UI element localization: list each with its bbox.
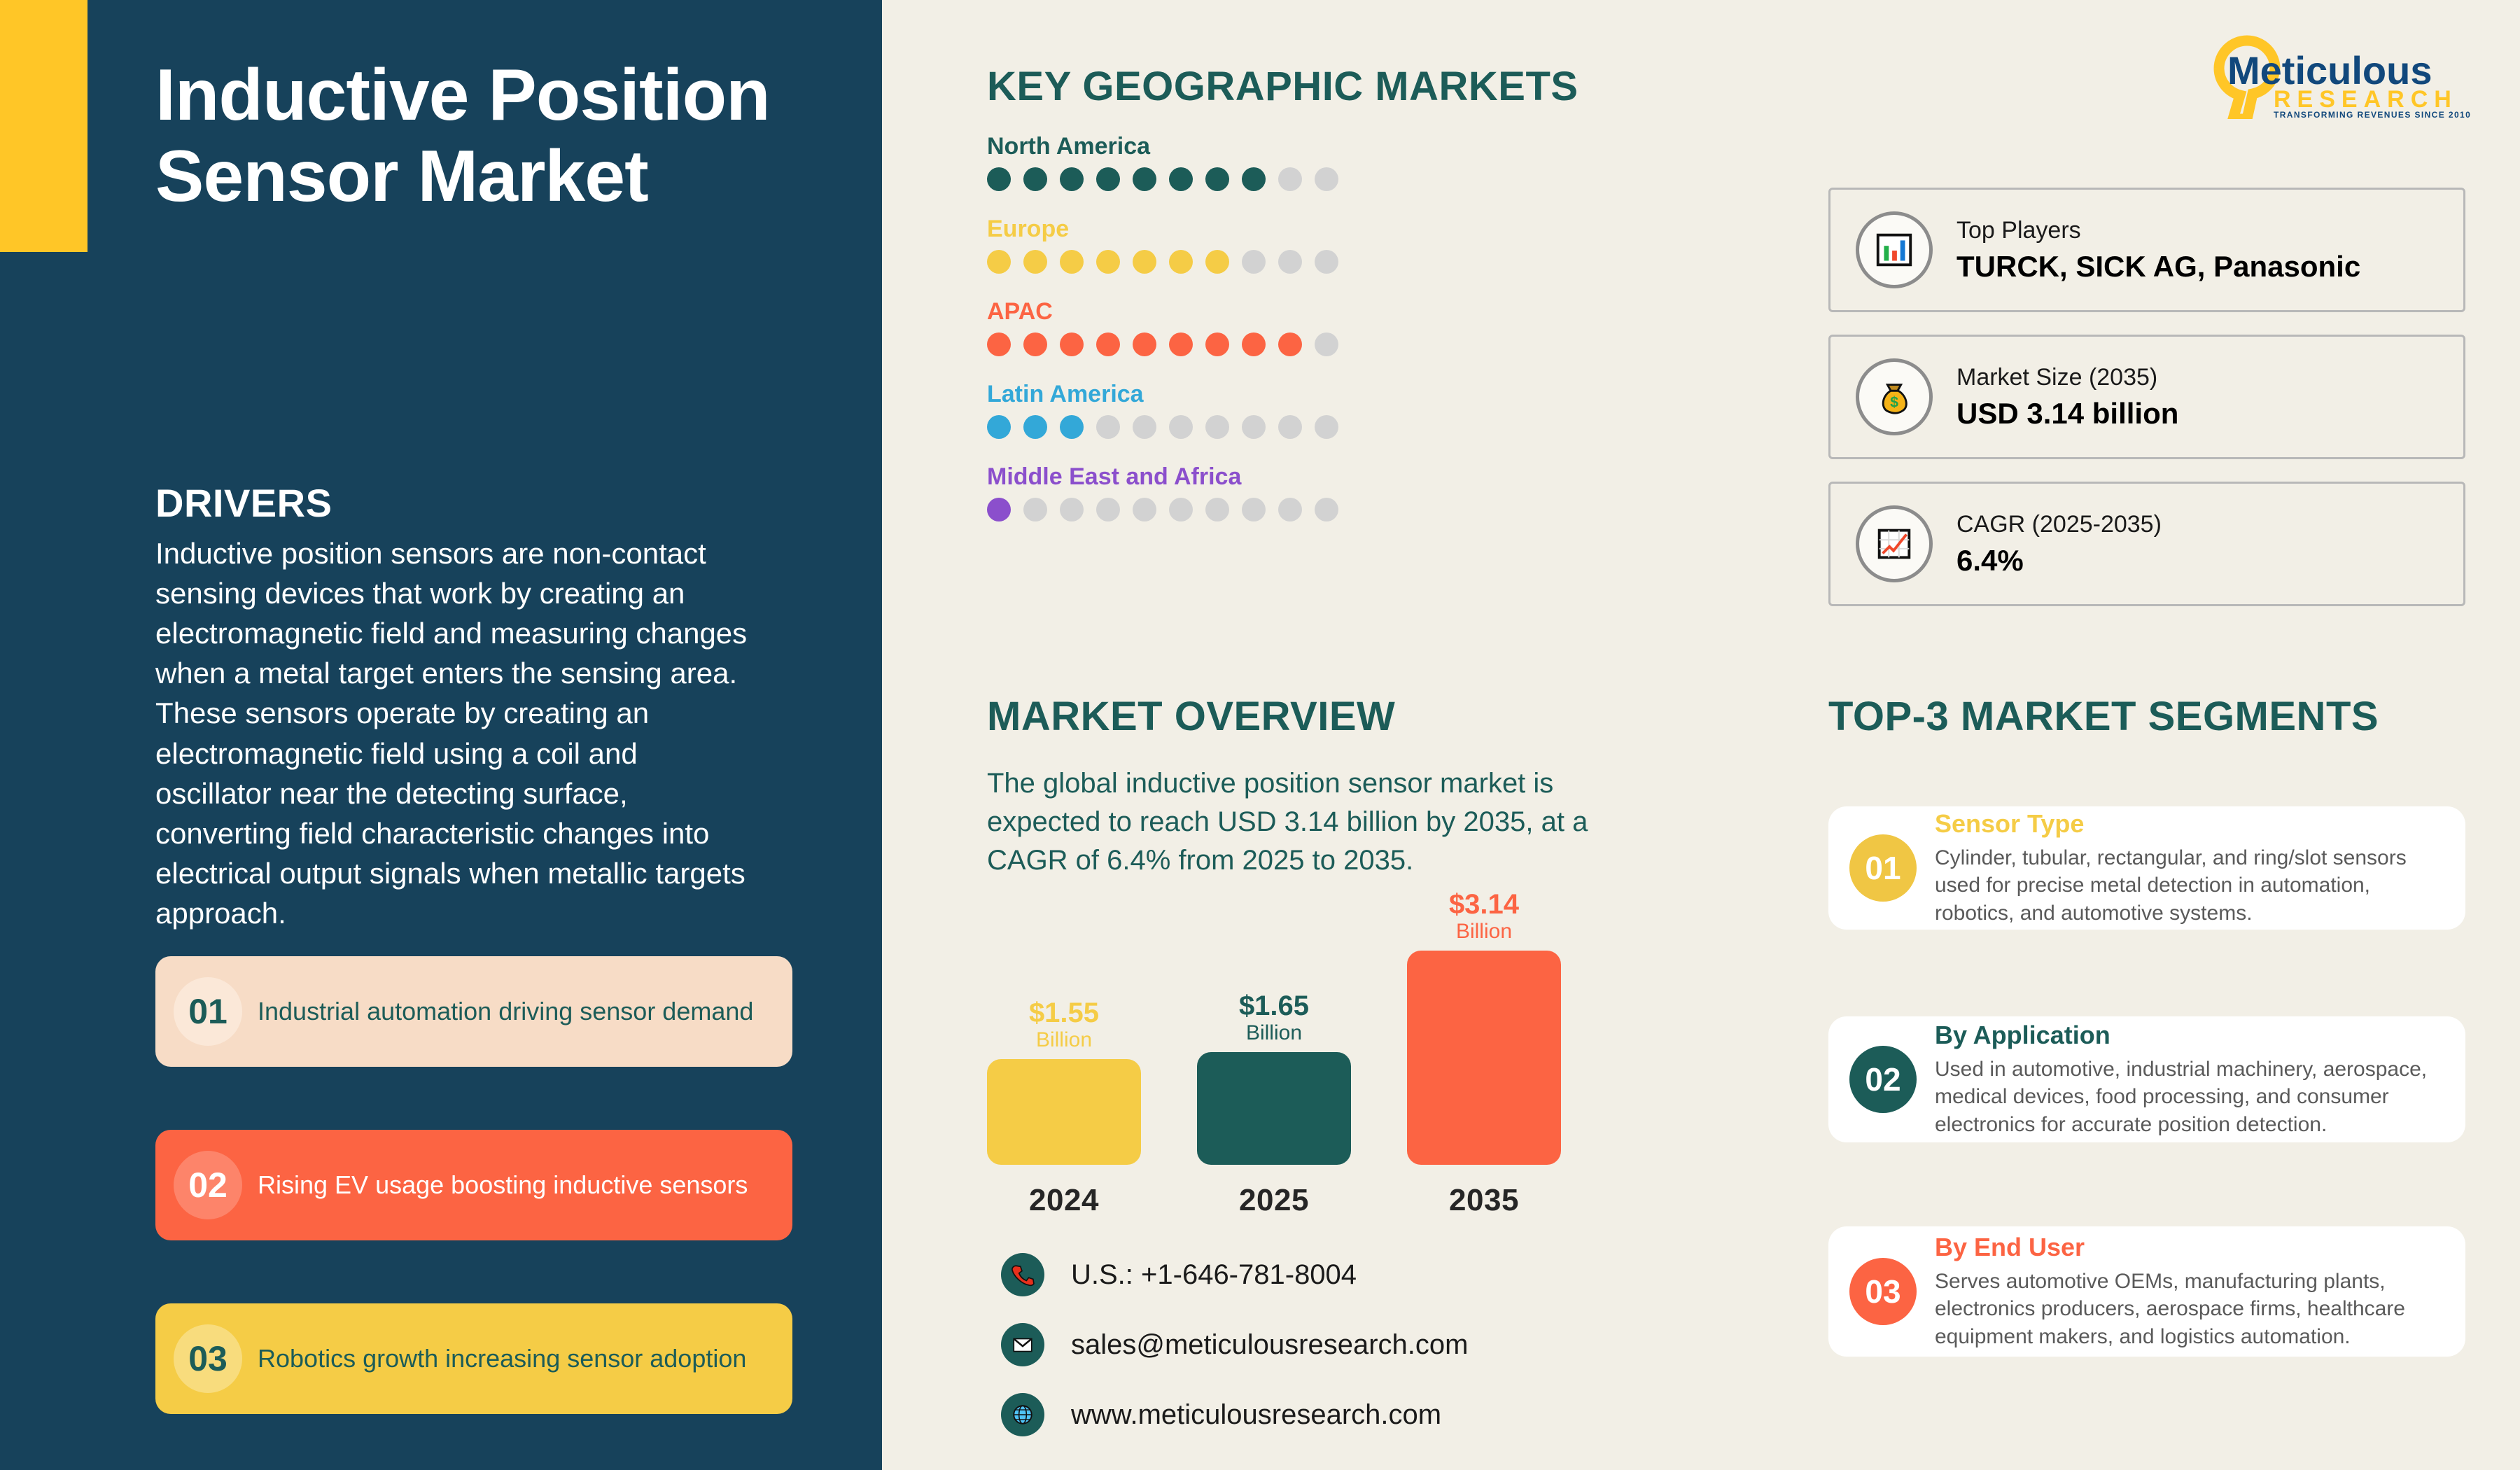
geo-dot-filled [1205, 250, 1229, 274]
geo-dot-empty [1315, 250, 1338, 274]
email-icon [1001, 1323, 1044, 1366]
geo-dot-empty [1060, 498, 1084, 521]
stat-label: Market Size (2035) [1956, 364, 2178, 391]
market-overview-body: The global inductive position sensor mar… [987, 764, 1631, 881]
market-overview-title: MARKET OVERVIEW [987, 693, 1395, 740]
geo-dot-empty [1315, 415, 1338, 439]
money-bag-icon: $ [1856, 358, 1933, 435]
contact-row-email[interactable]: sales@meticulousresearch.com [1001, 1323, 1468, 1366]
bar-unit-label: Billion [1456, 919, 1512, 944]
segment-description: Cylinder, tubular, rectangular, and ring… [1935, 844, 2444, 927]
bar-category-label: 2024 [1029, 1183, 1099, 1218]
drivers-body-text: Inductive position sensors are non-conta… [155, 533, 757, 933]
svg-text:RESEARCH: RESEARCH [2274, 86, 2458, 113]
contact-email-text: sales@meticulousresearch.com [1071, 1329, 1468, 1361]
geo-dot-empty [1169, 498, 1193, 521]
segment-card-01[interactable]: 01 Sensor Type Cylinder, tubular, rectan… [1828, 806, 2465, 930]
left-panel: Inductive Position Sensor Market DRIVERS… [0, 0, 882, 1470]
geo-dot-filled [1023, 415, 1047, 439]
geo-dot-scale [987, 498, 1547, 521]
geo-region-label: APAC [987, 298, 1547, 325]
geo-dot-filled [1096, 250, 1120, 274]
geo-dot-empty [1205, 415, 1229, 439]
segment-heading: By Application [1935, 1021, 2444, 1050]
geo-dot-empty [1242, 498, 1266, 521]
geo-dot-filled [1023, 167, 1047, 191]
geo-dot-filled [1242, 332, 1266, 356]
geo-region-label: Middle East and Africa [987, 463, 1547, 491]
bar-value-label: $1.65 [1239, 992, 1309, 1021]
stat-value: USD 3.14 billion [1956, 397, 2178, 430]
driver-number-badge: 03 [174, 1324, 242, 1393]
drivers-heading: DRIVERS [155, 480, 332, 526]
segment-card-03[interactable]: 03 By End User Serves automotive OEMs, m… [1828, 1226, 2465, 1357]
geo-dot-filled [1169, 167, 1193, 191]
bar-value-label: $3.14 [1449, 890, 1519, 919]
driver-label: Rising EV usage boosting inductive senso… [258, 1169, 766, 1201]
geo-dot-empty [1315, 498, 1338, 521]
geo-dot-filled [1023, 250, 1047, 274]
meticulous-research-logo: Meticulous RESEARCH TRANSFORMING REVENUE… [2198, 28, 2478, 119]
geo-dot-filled [987, 167, 1011, 191]
segment-heading: Sensor Type [1935, 809, 2444, 839]
contact-block: U.S.: +1-646-781-8004 sales@meticulousre… [1001, 1253, 1468, 1463]
bar-rect [1197, 1052, 1351, 1165]
geo-dot-scale [987, 250, 1547, 274]
geo-dot-empty [1169, 415, 1193, 439]
geo-row-latin-america: Latin America [987, 381, 1547, 439]
geo-row-north-america: North America [987, 133, 1547, 191]
geo-dot-empty [1278, 250, 1302, 274]
geo-dot-scale [987, 415, 1547, 439]
geo-dot-empty [1096, 415, 1120, 439]
geo-dot-empty [1096, 498, 1120, 521]
stat-card-cagr[interactable]: CAGR (2025-2035) 6.4% [1828, 482, 2465, 606]
bar-rect [987, 1059, 1141, 1165]
globe-icon [1001, 1393, 1044, 1436]
bar-chart-icon [1856, 211, 1933, 288]
geo-dot-filled [1060, 250, 1084, 274]
geo-dot-empty [1315, 167, 1338, 191]
geo-dot-scale [987, 332, 1547, 356]
geo-dot-filled [1133, 332, 1156, 356]
geo-dot-filled [1169, 250, 1193, 274]
stat-card-market-size[interactable]: $ Market Size (2035) USD 3.14 billion [1828, 335, 2465, 459]
geo-dot-empty [1023, 498, 1047, 521]
bar-unit-label: Billion [1246, 1021, 1302, 1045]
contact-phone-text: U.S.: +1-646-781-8004 [1071, 1259, 1357, 1291]
stat-label: Top Players [1956, 217, 2360, 244]
segment-description: Used in automotive, industrial machinery… [1935, 1056, 2444, 1139]
segment-number-badge: 01 [1849, 834, 1917, 902]
geo-dot-empty [1315, 332, 1338, 356]
market-size-bar-chart: $1.55Billion2024$1.65Billion2025$3.14Bil… [987, 896, 1568, 1218]
geo-dot-filled [1096, 332, 1120, 356]
stat-card-top-players[interactable]: Top Players TURCK, SICK AG, Panasonic [1828, 188, 2465, 312]
geo-dot-empty [1242, 415, 1266, 439]
svg-text:$: $ [1890, 394, 1898, 411]
geo-dot-filled [1242, 167, 1266, 191]
geo-dot-filled [1023, 332, 1047, 356]
driver-label: Robotics growth increasing sensor adopti… [258, 1343, 764, 1375]
geo-dot-filled [987, 332, 1011, 356]
geo-dot-empty [1242, 250, 1266, 274]
geo-dot-scale [987, 167, 1547, 191]
geo-dot-empty [1278, 167, 1302, 191]
driver-number-badge: 02 [174, 1151, 242, 1219]
geo-dot-filled [1278, 332, 1302, 356]
geo-dot-filled [1133, 250, 1156, 274]
driver-card-03[interactable]: 03 Robotics growth increasing sensor ado… [155, 1303, 792, 1414]
bar-rect [1407, 951, 1561, 1165]
geo-dot-empty [1205, 498, 1229, 521]
driver-number-badge: 01 [174, 977, 242, 1046]
geo-dot-filled [1060, 332, 1084, 356]
segment-description: Serves automotive OEMs, manufacturing pl… [1935, 1268, 2444, 1351]
geo-dot-filled [1096, 167, 1120, 191]
stat-value: 6.4% [1956, 544, 2162, 577]
geo-dot-filled [1169, 332, 1193, 356]
segment-heading: By End User [1935, 1233, 2444, 1262]
svg-text:TRANSFORMING REVENUES SINCE 20: TRANSFORMING REVENUES SINCE 2010 [2274, 110, 2471, 119]
contact-row-website[interactable]: www.meticulousresearch.com [1001, 1393, 1468, 1436]
segment-number-badge: 03 [1849, 1258, 1917, 1325]
geo-dot-filled [1060, 167, 1084, 191]
geo-dot-filled [987, 498, 1011, 521]
bar-unit-label: Billion [1036, 1028, 1092, 1052]
geo-dot-empty [1278, 415, 1302, 439]
segments-section-title: TOP-3 MARKET SEGMENTS [1828, 693, 2379, 740]
geo-dot-empty [1278, 498, 1302, 521]
geo-dot-filled [987, 250, 1011, 274]
geo-dot-filled [1205, 167, 1229, 191]
geo-row-apac: APAC [987, 298, 1547, 356]
bar-category-label: 2035 [1449, 1183, 1519, 1218]
bar-value-label: $1.55 [1029, 999, 1099, 1028]
phone-icon [1001, 1253, 1044, 1296]
segment-card-02[interactable]: 02 By Application Used in automotive, in… [1828, 1016, 2465, 1142]
bar-category-label: 2025 [1239, 1183, 1309, 1218]
yellow-accent-bar [0, 0, 87, 252]
geo-region-label: Europe [987, 216, 1547, 243]
geo-row-europe: Europe [987, 216, 1547, 274]
segment-number-badge: 02 [1849, 1046, 1917, 1113]
geo-dot-filled [1133, 167, 1156, 191]
stat-value: TURCK, SICK AG, Panasonic [1956, 250, 2360, 283]
geo-dot-filled [987, 415, 1011, 439]
geo-row-middle-east-and-africa: Middle East and Africa [987, 463, 1547, 521]
geo-section-title: KEY GEOGRAPHIC MARKETS [987, 63, 1578, 110]
page-title: Inductive Position Sensor Market [155, 55, 785, 218]
driver-card-01[interactable]: 01 Industrial automation driving sensor … [155, 956, 792, 1067]
bar-column-2024: $1.55Billion2024 [987, 999, 1141, 1218]
geo-region-label: Latin America [987, 381, 1547, 408]
contact-website-text: www.meticulousresearch.com [1071, 1399, 1441, 1431]
geo-dot-empty [1133, 498, 1156, 521]
bar-column-2025: $1.65Billion2025 [1197, 992, 1351, 1218]
geo-dot-empty [1133, 415, 1156, 439]
driver-label: Industrial automation driving sensor dem… [258, 995, 771, 1028]
bar-column-2035: $3.14Billion2035 [1407, 890, 1561, 1218]
stat-label: CAGR (2025-2035) [1956, 511, 2162, 538]
driver-card-02[interactable]: 02 Rising EV usage boosting inductive se… [155, 1130, 792, 1240]
geo-dot-filled [1205, 332, 1229, 356]
geo-dot-filled [1060, 415, 1084, 439]
geo-region-label: North America [987, 133, 1547, 160]
trend-up-icon [1856, 505, 1933, 582]
contact-row-phone[interactable]: U.S.: +1-646-781-8004 [1001, 1253, 1468, 1296]
